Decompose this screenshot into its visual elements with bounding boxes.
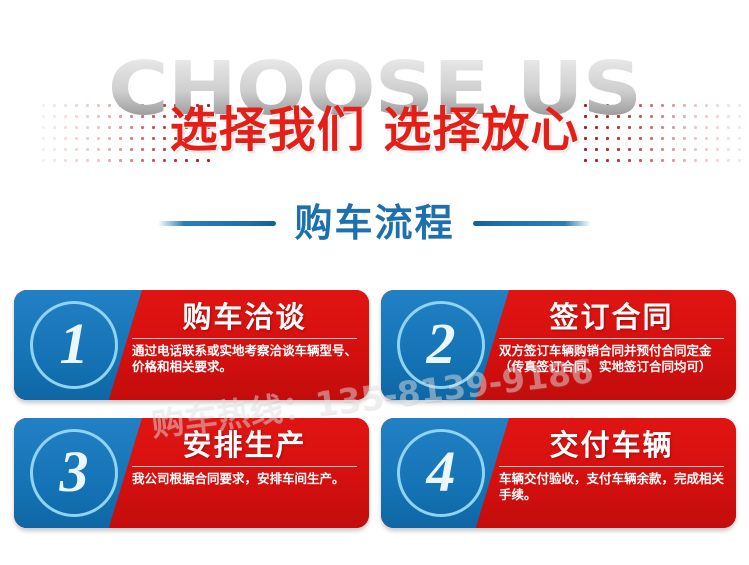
card-description: 我公司根据合同要求，安排车间生产。 [132, 471, 357, 487]
step-number: 4 [397, 429, 485, 517]
card-divider [499, 338, 724, 339]
card-title: 购车洽谈 [132, 298, 357, 336]
divider-right [473, 221, 591, 226]
process-card-3[interactable]: 3 安排生产 我公司根据合同要求，安排车间生产。 [14, 418, 369, 528]
promo-banner: CHOOSE US 选择我们 选择放心 购车流程 1 购车洽谈 通过电话联系或实… [0, 0, 749, 565]
banner-header: CHOOSE US 选择我们 选择放心 [0, 0, 749, 185]
card-body: 交付车辆 车辆交付验收，支付车辆余款，完成相关手续。 [499, 426, 724, 520]
card-title: 签订合同 [499, 298, 724, 336]
card-description: 车辆交付验收，支付车辆余款，完成相关手续。 [499, 471, 724, 503]
card-divider [499, 466, 724, 467]
step-number: 2 [397, 301, 485, 389]
card-divider [132, 466, 357, 467]
process-card-4[interactable]: 4 交付车辆 车辆交付验收，支付车辆余款，完成相关手续。 [381, 418, 736, 528]
section-title: 购车流程 [294, 200, 454, 246]
process-card-1[interactable]: 1 购车洽谈 通过电话联系或实地考察洽谈车辆型号、价格和相关要求。 [14, 290, 369, 400]
card-body: 购车洽谈 通过电话联系或实地考察洽谈车辆型号、价格和相关要求。 [132, 298, 357, 392]
step-number: 3 [30, 429, 118, 517]
card-body: 安排生产 我公司根据合同要求，安排车间生产。 [132, 426, 357, 520]
card-divider [132, 338, 357, 339]
process-card-2[interactable]: 2 签订合同 双方签订车辆购销合同并预付合同定金（传真签订合同、实地签订合同均可… [381, 290, 736, 400]
card-description: 双方签订车辆购销合同并预付合同定金（传真签订合同、实地签订合同均可） [499, 343, 724, 375]
card-title: 交付车辆 [499, 426, 724, 464]
card-body: 签订合同 双方签订车辆购销合同并预付合同定金（传真签订合同、实地签订合同均可） [499, 298, 724, 392]
banner-headline: 选择我们 选择放心 [0, 100, 749, 160]
process-card-grid: 1 购车洽谈 通过电话联系或实地考察洽谈车辆型号、价格和相关要求。 2 签订合同… [14, 290, 736, 528]
card-description: 通过电话联系或实地考察洽谈车辆型号、价格和相关要求。 [132, 343, 357, 375]
divider-left [158, 221, 276, 226]
card-title: 安排生产 [132, 426, 357, 464]
section-title-group: 购车流程 [0, 192, 749, 254]
step-number: 1 [30, 301, 118, 389]
